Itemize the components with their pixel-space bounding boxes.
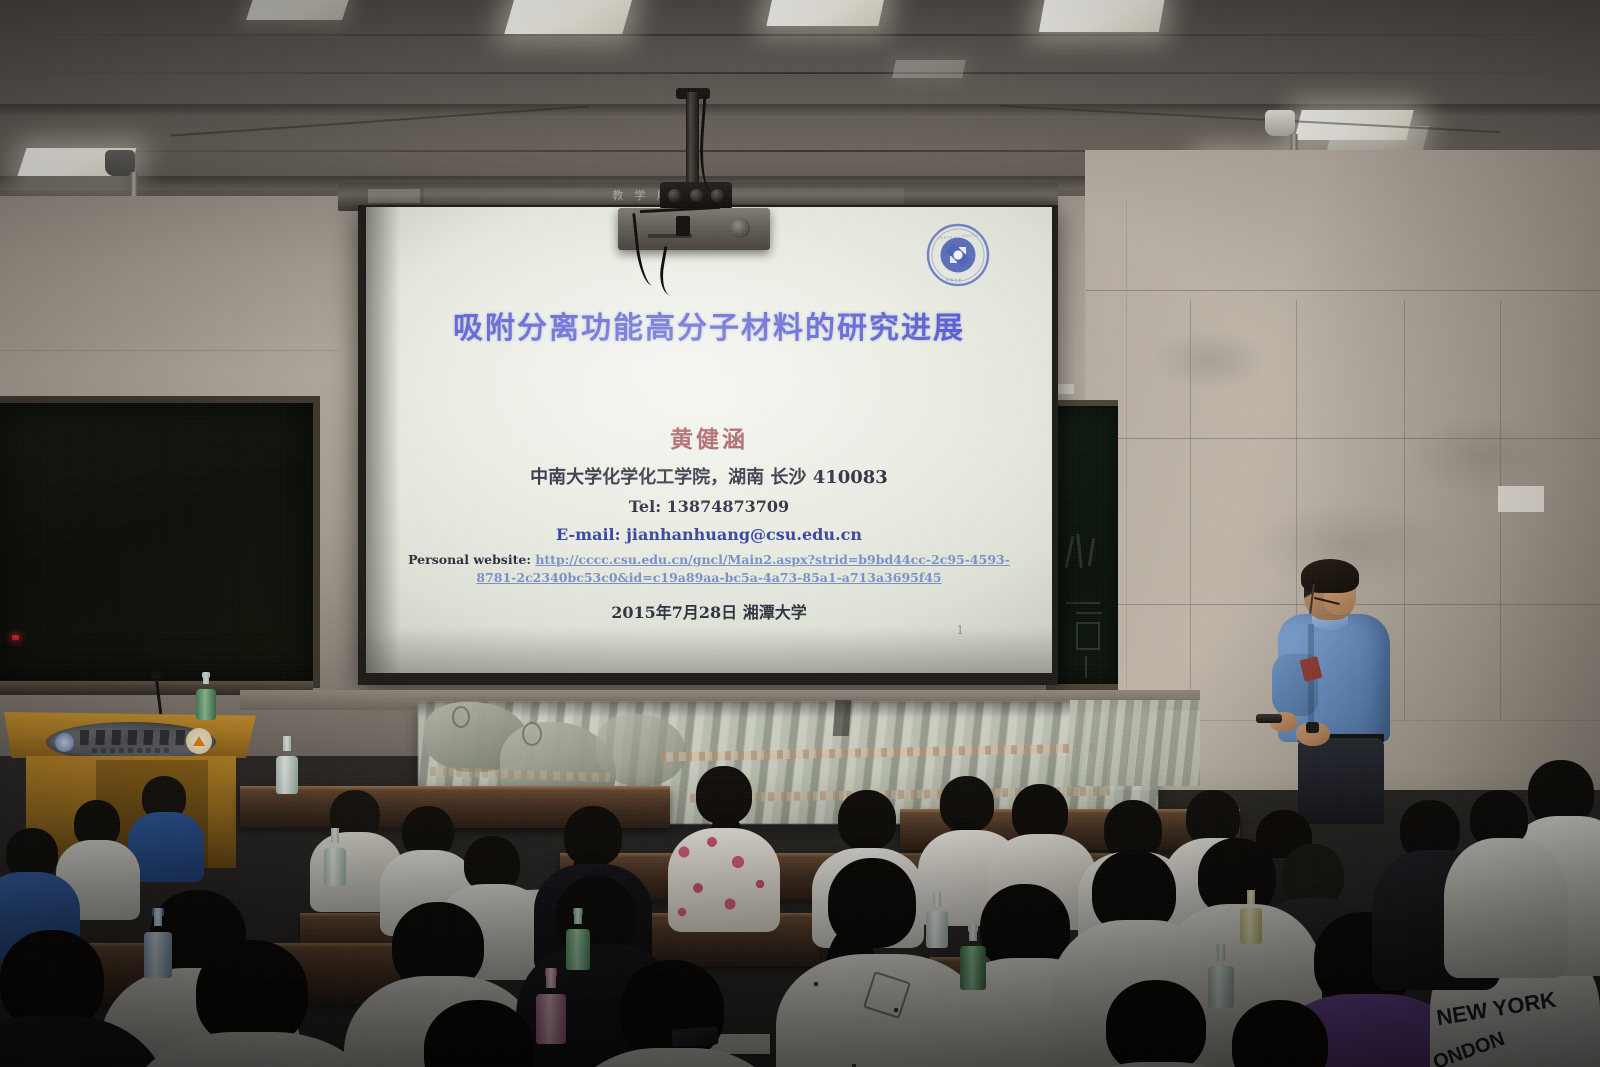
- water-bottle: [324, 828, 346, 886]
- water-bottle: [566, 908, 590, 970]
- lecture-hall-scene: 教 学 用 屏 一 C E N T R A L S O U T H 中: [0, 0, 1600, 1067]
- podium-badge-icon: [186, 728, 212, 754]
- presenter-trousers: [1298, 738, 1384, 824]
- water-bottle: [926, 892, 948, 948]
- mobile-phone: [671, 1026, 718, 1047]
- slide-author: 黄健涵: [366, 420, 1052, 454]
- ceiling-light-panel: [246, 0, 350, 20]
- slide-title: 吸附分离功能高分子材料的研究进展: [366, 303, 1052, 347]
- slide-website: Personal website: http://cccc.csu.edu.cn…: [372, 551, 1046, 587]
- housing-tag: [368, 189, 420, 203]
- eyeglasses-icon: [1284, 878, 1314, 888]
- water-bottle: [1240, 890, 1262, 944]
- shirt-text-london: LONDON: [1430, 1028, 1508, 1067]
- blackboard-left: [0, 396, 320, 688]
- water-bottle: [144, 908, 172, 978]
- slide-affiliation: 中南大学化学化工学院，湖南 长沙 410083: [366, 463, 1052, 489]
- indicator-led: [12, 635, 19, 640]
- projection-screen: C E N T R A L S O U T H 中 南 大 学 吸附分离功能高分…: [366, 207, 1052, 673]
- svg-text:中 南 大 学: 中 南 大 学: [946, 277, 961, 282]
- projector-lens: [730, 218, 750, 238]
- water-bottle: [276, 736, 298, 794]
- website-url-line1[interactable]: http://cccc.csu.edu.cn/gncl/Main2.aspx?s…: [535, 552, 1010, 567]
- ceiling-light-panel: [504, 0, 633, 34]
- presentation-slide: C E N T R A L S O U T H 中 南 大 学 吸附分离功能高分…: [366, 207, 1052, 673]
- presenter-speaker: [1268, 562, 1408, 824]
- water-bottle: [196, 672, 216, 720]
- podium-plaque-english-text: [92, 748, 170, 753]
- projector-plug: [676, 216, 690, 236]
- ceiling-light-panel: [1039, 0, 1165, 32]
- ceiling-light-panel: [766, 0, 885, 26]
- wall-paper-note: [1498, 486, 1544, 512]
- website-label: Personal website:: [408, 552, 531, 567]
- projector-pole: [686, 92, 699, 188]
- podium-plaque-chinese-text: [80, 730, 188, 745]
- floral-dress: [668, 828, 780, 932]
- ceiling-light-panel: [892, 60, 966, 78]
- screen-shadow: [366, 627, 1052, 673]
- slide-email: E-mail: jianhanhuang@csu.edu.cn: [366, 525, 1052, 544]
- presenter-hair: [1301, 559, 1359, 593]
- presenter-remote: [1256, 714, 1282, 723]
- slide-telephone: Tel: 13874873709: [366, 497, 1052, 516]
- svg-text:C E N T R A L: C E N T R A L: [938, 236, 958, 240]
- podium-seal-icon: [55, 733, 74, 752]
- curtain-shadow: [418, 702, 1158, 718]
- presenter-wristwatch: [1306, 722, 1319, 733]
- water-bottle: [1208, 944, 1234, 1008]
- shirt-text-newyork: NEW YORK: [1435, 987, 1558, 1032]
- water-bottle: [536, 968, 566, 1044]
- central-south-university-seal-icon: C E N T R A L S O U T H 中 南 大 学: [926, 223, 990, 287]
- screen-shadow: [366, 207, 400, 673]
- svg-text:S O U T H: S O U T H: [962, 234, 977, 238]
- water-bottle: [960, 924, 986, 990]
- website-url-line2[interactable]: 8781-2c2340bc53c0&id=c19a89aa-bc5a-4a73-…: [476, 570, 941, 585]
- slide-date-venue: 2015年7月28日 湘潭大学: [366, 599, 1052, 623]
